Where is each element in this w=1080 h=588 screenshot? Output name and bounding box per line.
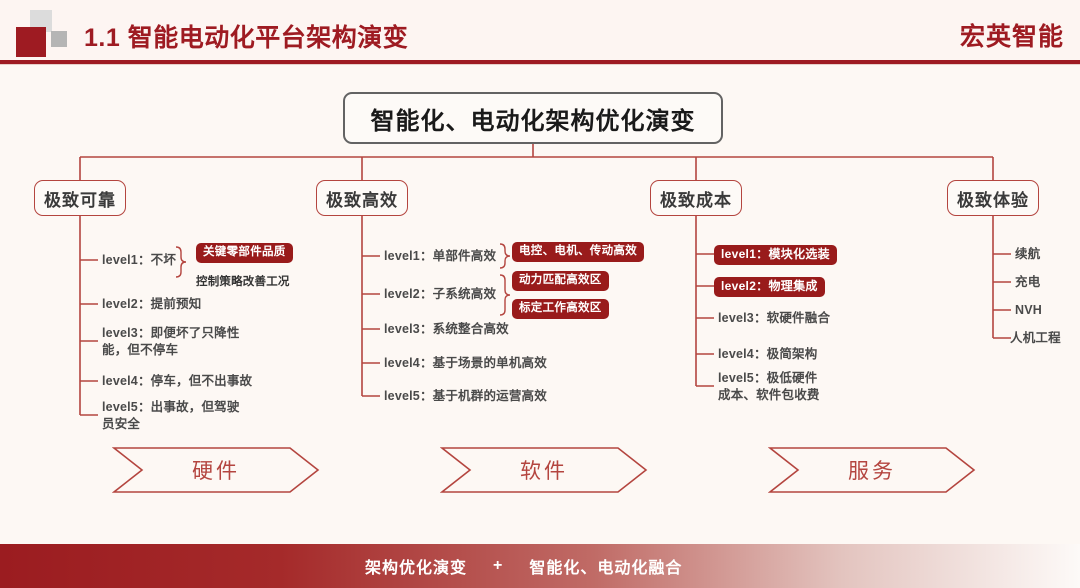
level-item[interactable]: level3：即便坏了只降性 能，但不停车 <box>102 325 240 359</box>
level-item[interactable]: level4：基于场景的单机高效 <box>384 355 547 372</box>
level-badge[interactable]: 电控、电机、传动高效 <box>512 242 644 262</box>
level-item[interactable]: level4：停车，但不出事故 <box>102 373 252 390</box>
category-node-2[interactable]: 极致高效 <box>316 180 408 216</box>
level-item[interactable]: level5：基于机群的运营高效 <box>384 388 547 405</box>
chevron-label: 硬件 <box>112 446 320 494</box>
chevron-banner-hardware[interactable]: 硬件 <box>112 446 320 494</box>
level-item[interactable]: level3：系统整合高效 <box>384 321 509 338</box>
chevron-label: 服务 <box>768 446 976 494</box>
page-title: 1.1 智能电动化平台架构演变 <box>84 18 408 54</box>
category-node-1[interactable]: 极致可靠 <box>34 180 126 216</box>
level-item[interactable]: level1：单部件高效 <box>384 248 496 265</box>
level-item[interactable]: level5：出事故，但驾驶 员安全 <box>102 399 240 433</box>
level-item[interactable]: level1：不坏 <box>102 252 176 269</box>
root-node[interactable]: 智能化、电动化架构优化演变 <box>343 92 723 144</box>
chevron-banner-software[interactable]: 软件 <box>440 446 648 494</box>
page-header: 1.1 智能电动化平台架构演变 宏英智能 <box>0 0 1080 62</box>
level-badge[interactable]: 标定工作高效区 <box>512 299 609 319</box>
level-subtag: 控制策略改善工况 <box>196 273 290 289</box>
level-badge[interactable]: 动力匹配高效区 <box>512 271 609 291</box>
level-item[interactable]: 充电 <box>1015 274 1040 291</box>
header-divider-thin <box>0 64 1080 65</box>
decorative-square-dark <box>16 27 46 57</box>
level-item[interactable]: 续航 <box>1015 246 1040 263</box>
level-item[interactable]: level5：极低硬件 成本、软件包收费 <box>718 370 820 404</box>
category-node-3[interactable]: 极致成本 <box>650 180 742 216</box>
level-item[interactable]: NVH <box>1015 302 1042 319</box>
level-item[interactable]: level2：提前预知 <box>102 296 201 313</box>
chevron-label: 软件 <box>440 446 648 494</box>
page-footer: 架构优化演变 + 智能化、电动化融合 <box>0 544 1080 588</box>
level-item[interactable]: level3：软硬件融合 <box>718 310 830 327</box>
level-item[interactable]: level4：极简架构 <box>718 346 817 363</box>
brand-logo: 宏英智能 <box>960 17 1064 53</box>
decorative-square-small <box>51 31 67 47</box>
level-badge[interactable]: level2：物理集成 <box>714 277 825 297</box>
footer-content: 架构优化演变 + 智能化、电动化融合 <box>365 554 682 578</box>
category-node-4[interactable]: 极致体验 <box>947 180 1039 216</box>
level-badge[interactable]: 关键零部件品质 <box>196 243 293 263</box>
level-badge[interactable]: level1：模块化选装 <box>714 245 837 265</box>
footer-left-text: 架构优化演变 <box>365 554 467 578</box>
chevron-banner-service[interactable]: 服务 <box>768 446 976 494</box>
diagram-canvas: 智能化、电动化架构优化演变 极致可靠 极致高效 极致成本 极致体验 level1… <box>0 66 1080 534</box>
level-item[interactable]: level2：子系统高效 <box>384 286 496 303</box>
footer-right-text: 智能化、电动化融合 <box>529 554 682 578</box>
footer-plus-sign: + <box>493 557 503 575</box>
level-item[interactable]: 人机工程 <box>1010 330 1061 347</box>
